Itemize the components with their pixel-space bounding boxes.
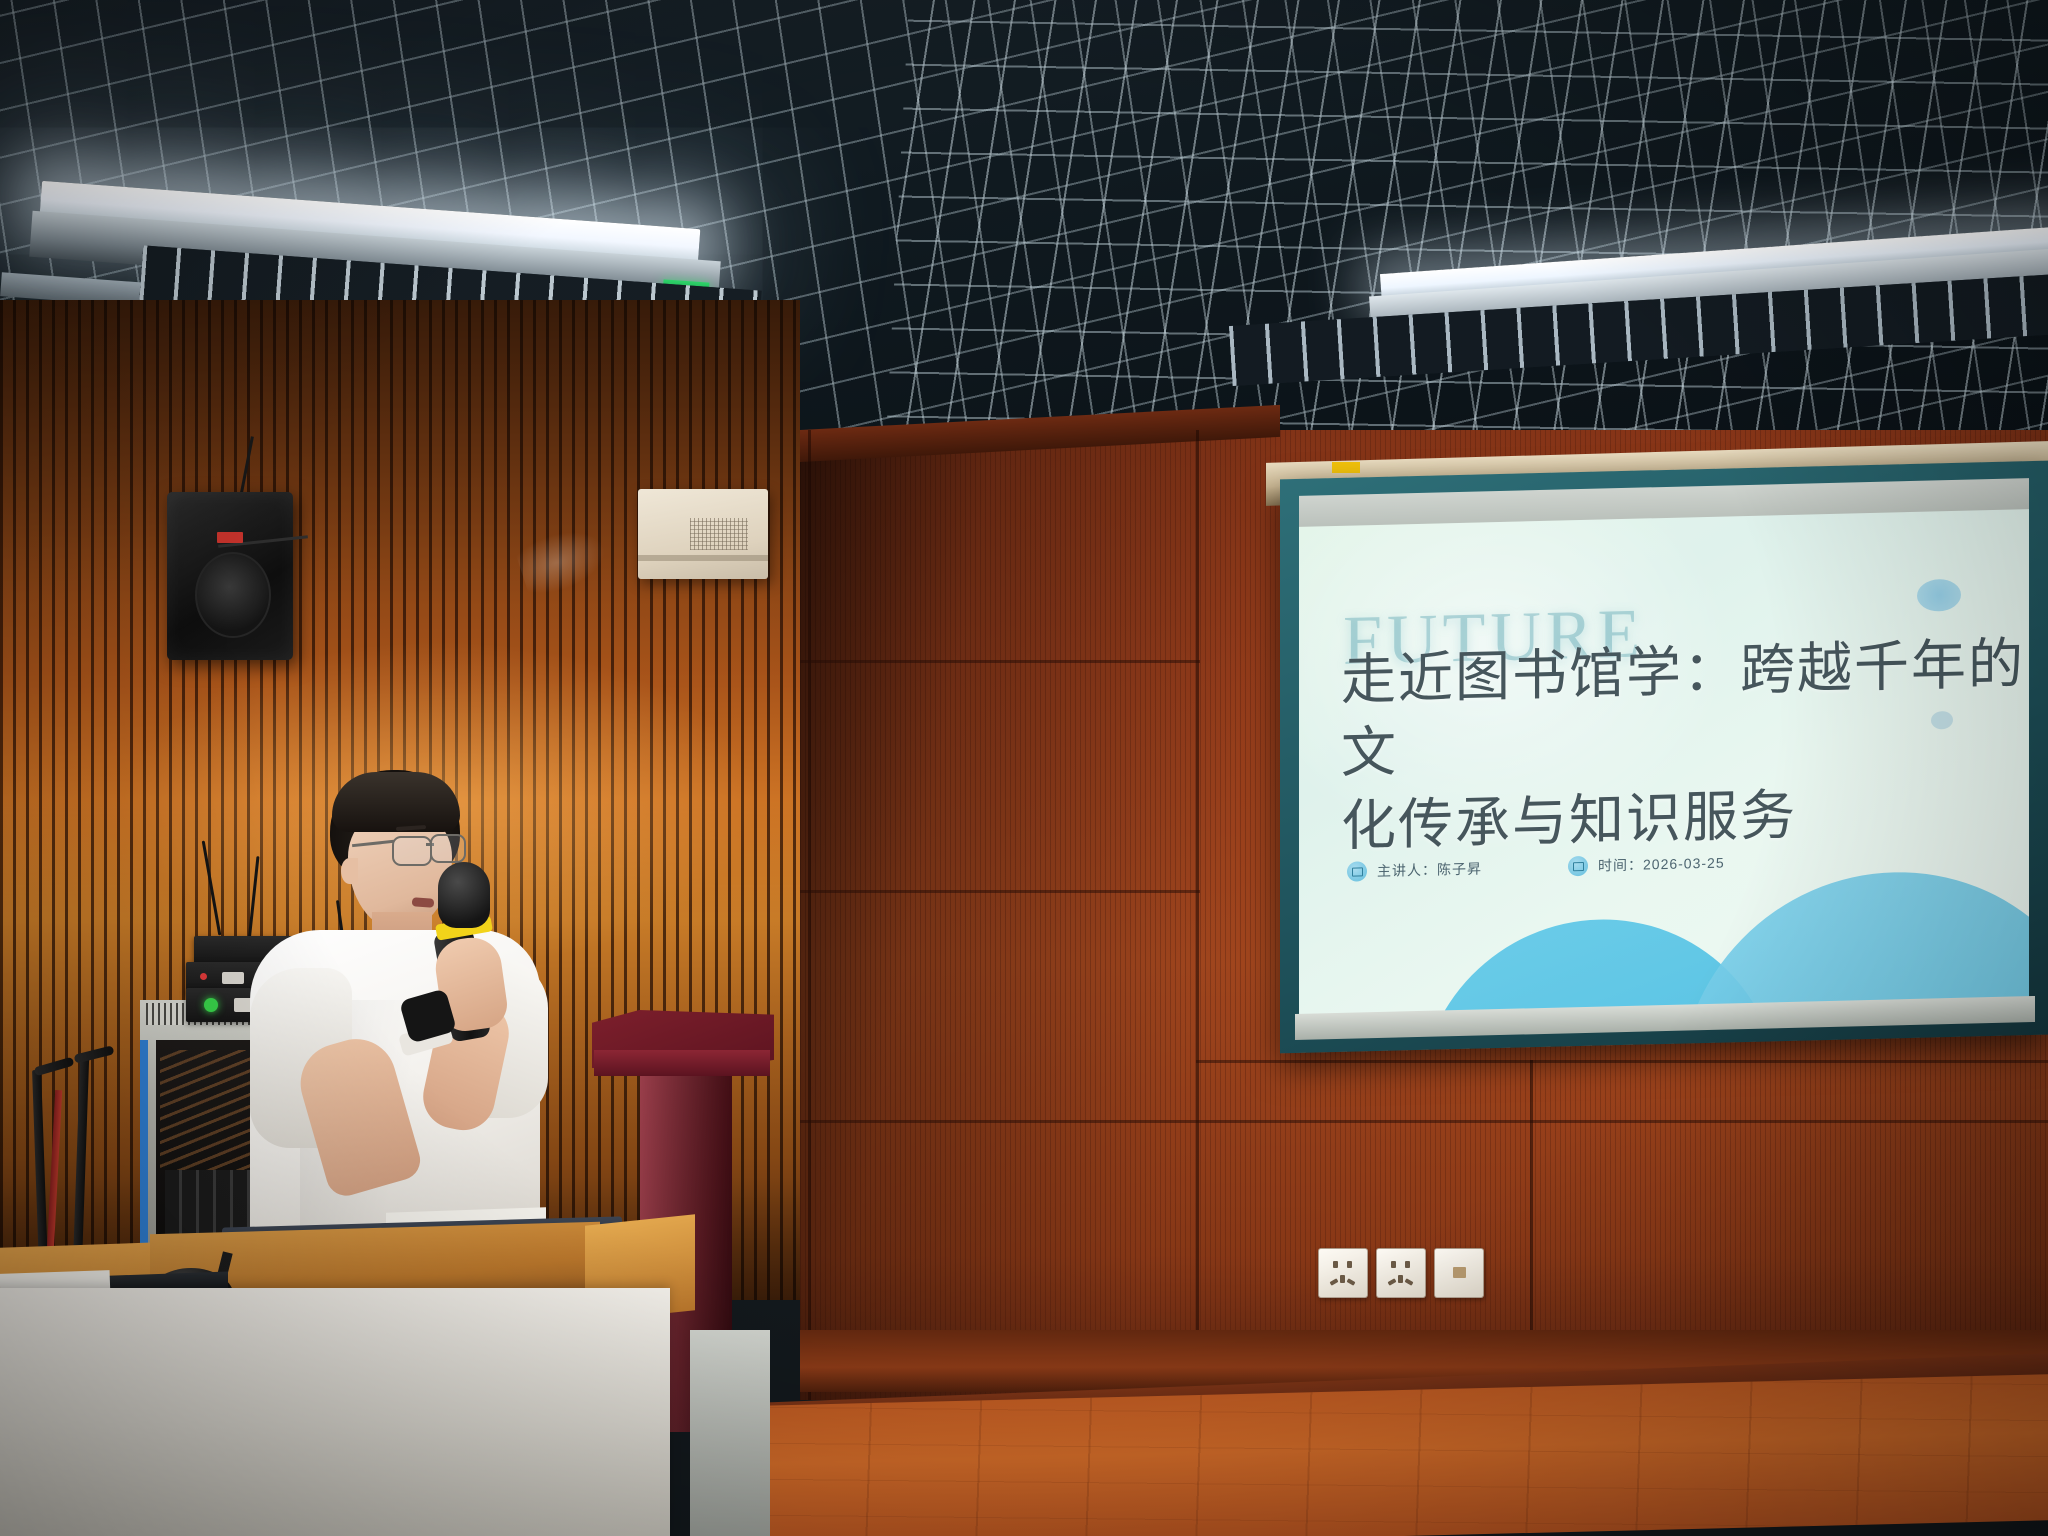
slide-date-text: 时间：2026-03-25 [1598,853,1725,876]
slide-title-line-1: 走近图书馆学：跨越千年的文 [1341,627,2029,790]
power-socket[interactable] [1318,1248,1368,1298]
slide-meta-date: 时间：2026-03-25 [1568,853,1725,877]
presenter-hair-fringe [332,772,460,832]
wall-panel-seam [800,660,1200,663]
lecture-hall-photo: FUTURE 走近图书馆学：跨越千年的文 化传承与知识服务 主讲人：陈子昇 时间… [0,0,2048,1536]
clock-icon [1568,856,1588,876]
person-badge-icon [1347,861,1367,881]
slide-decor-dot-large [1917,579,1961,612]
eyeglasses-lens-left [392,836,432,866]
power-socket[interactable] [1376,1248,1426,1298]
eyeglasses-lens-right [430,834,466,863]
wall-panel-seam [800,1120,2048,1123]
projection-screen: FUTURE 走近图书馆学：跨越千年的文 化传承与知识服务 主讲人：陈子昇 时间… [1299,509,2029,1017]
front-console-desk [0,1288,670,1536]
slide-title: 走近图书馆学：跨越千年的文 化传承与知识服务 [1341,627,2029,864]
wall-panel-seam [808,430,811,1400]
speaker-cone-icon [195,552,271,638]
network-jack[interactable] [1434,1248,1484,1298]
rack-blue-rail [140,1040,148,1250]
wall-unit-grille [690,518,748,550]
microphone-head[interactable] [438,862,490,928]
slide-wave-shape-front [1679,867,2029,1017]
stage-step [690,1330,770,1536]
lectern-front-face [594,1050,770,1076]
housing-label-tag [1332,462,1360,473]
slide-meta-speaker: 主讲人：陈子昇 [1347,858,1482,881]
wall-panel-seam [1196,1060,2048,1063]
wall-panel-seam [1196,430,1199,1400]
wall-unit-lip [638,555,768,561]
wall-panel-seam [800,890,1200,893]
speaker-brand-badge [217,532,243,543]
slide-speaker-text: 主讲人：陈子昇 [1377,858,1482,881]
presenter-mouth [412,897,435,908]
presenter-ear [341,858,358,884]
